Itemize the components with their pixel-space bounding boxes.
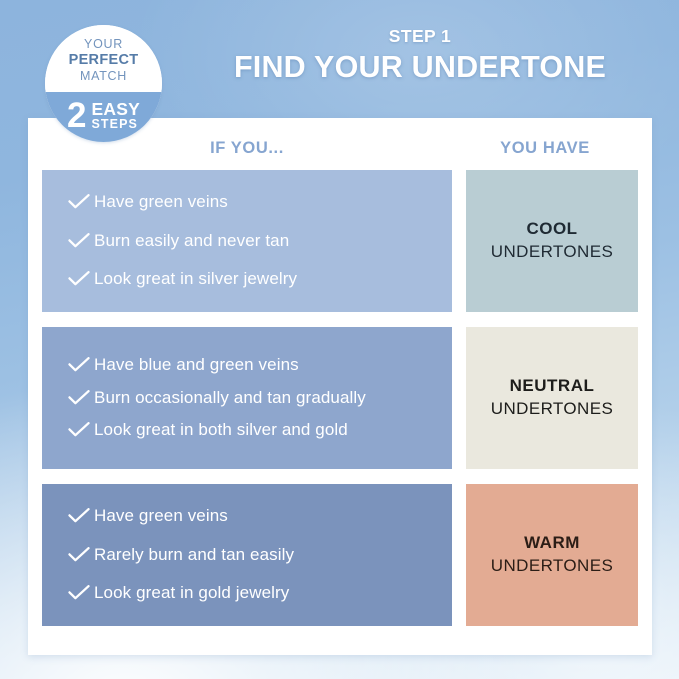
infographic-canvas: YOUR PERFECT MATCH 2 EASY STEPS STEP 1 F… [0,0,679,679]
list-item: Have blue and green veins [68,354,432,376]
check-icon [68,357,94,373]
undertone-name: NEUTRAL [510,375,595,398]
check-icon [68,271,94,287]
check-icon [68,547,94,563]
undertone-name: WARM [524,532,580,555]
check-icon [68,422,94,438]
criteria-panel-warm: Have green veins Rarely burn and tan eas… [42,484,452,626]
criterion-text: Have green veins [94,505,432,527]
criterion-text: Burn easily and never tan [94,230,432,252]
page-title: FIND YOUR UNDERTONE [185,51,655,85]
list-item: Have green veins [68,505,432,527]
badge-label-steps: STEPS [92,118,139,131]
badge-top-half: YOUR PERFECT MATCH [45,25,162,92]
check-icon [68,194,94,210]
column-header-you-have: YOU HAVE [452,135,638,161]
badge-step-number: 2 [67,101,86,132]
list-item: Have green veins [68,191,432,213]
check-icon [68,585,94,601]
list-item: Rarely burn and tan easily [68,544,432,566]
undertone-swatch-neutral: NEUTRAL UNDERTONES [466,327,638,469]
list-item: Burn easily and never tan [68,230,432,252]
check-icon [68,390,94,406]
badge-label-easy: EASY [92,101,140,118]
table-row: Have green veins Rarely burn and tan eas… [42,484,638,626]
step-label: STEP 1 [185,27,655,46]
table-row: Have green veins Burn easily and never t… [42,170,638,312]
undertone-swatch-warm: WARM UNDERTONES [466,484,638,626]
list-item: Burn occasionally and tan gradually [68,387,432,409]
check-icon [68,233,94,249]
badge-line-perfect: PERFECT [69,52,139,70]
table-row: Have blue and green veins Burn occasiona… [42,327,638,469]
criterion-text: Rarely burn and tan easily [94,544,432,566]
list-item: Look great in silver jewelry [68,268,432,290]
badge-bottom-half: 2 EASY STEPS [45,92,162,142]
criterion-text: Burn occasionally and tan gradually [94,387,432,409]
badge-line-match: MATCH [80,69,127,84]
criterion-text: Look great in silver jewelry [94,268,432,290]
undertone-sublabel: UNDERTONES [491,398,613,421]
badge-line-your: YOUR [84,37,123,52]
criterion-text: Look great in gold jewelry [94,582,432,604]
criteria-panel-neutral: Have blue and green veins Burn occasiona… [42,327,452,469]
undertone-name: COOL [526,218,577,241]
undertone-sublabel: UNDERTONES [491,555,613,578]
criteria-panel-cool: Have green veins Burn easily and never t… [42,170,452,312]
title-block: STEP 1 FIND YOUR UNDERTONE [185,27,655,85]
undertone-sublabel: UNDERTONES [491,241,613,264]
list-item: Look great in both silver and gold [68,419,432,441]
criterion-text: Have blue and green veins [94,354,432,376]
undertone-table: Have green veins Burn easily and never t… [42,170,638,626]
list-item: Look great in gold jewelry [68,582,432,604]
undertone-swatch-cool: COOL UNDERTONES [466,170,638,312]
badge-easy-steps: EASY STEPS [92,101,140,131]
criterion-text: Look great in both silver and gold [94,419,432,441]
criterion-text: Have green veins [94,191,432,213]
perfect-match-badge: YOUR PERFECT MATCH 2 EASY STEPS [45,25,162,142]
check-icon [68,508,94,524]
